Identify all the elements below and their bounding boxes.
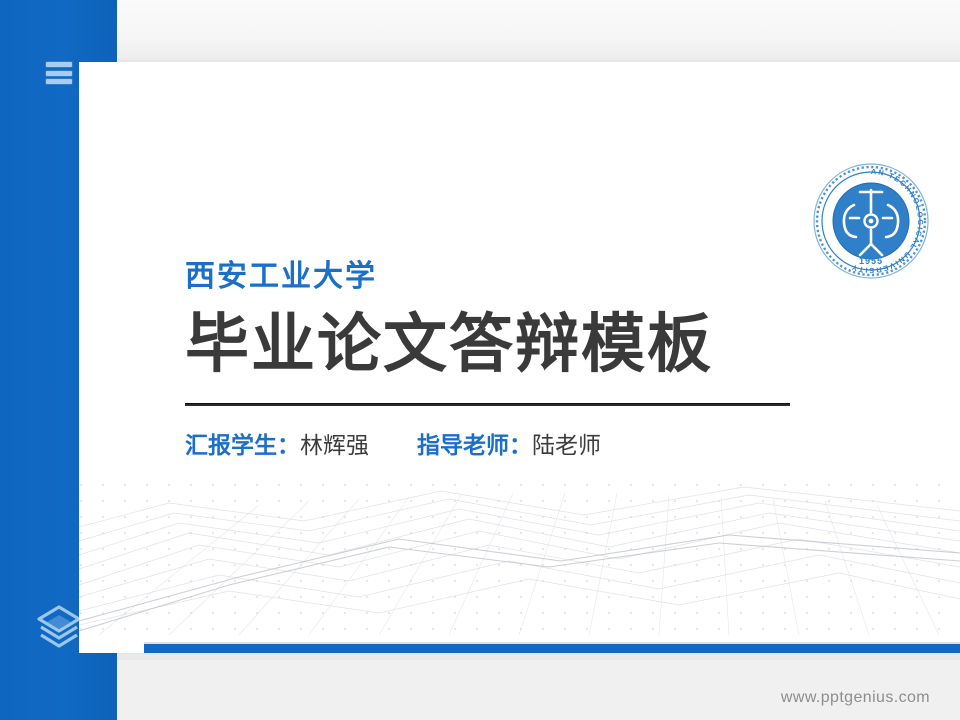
student-name: 林辉强 [300, 432, 369, 458]
student-info: 汇报学生：林辉强 [185, 432, 369, 460]
student-separator: ： [277, 432, 300, 458]
title-block: 西安工业大学 毕业论文答辩模板 汇报学生：林辉强 指导老师：陆老师 [185, 260, 825, 459]
watermark-url: www.pptgenius.com [781, 689, 930, 707]
advisor-name: 陆老师 [532, 432, 601, 458]
page-title: 毕业论文答辩模板 [185, 309, 825, 381]
advisor-separator: ： [509, 432, 532, 458]
slide-bottom-accent-bar [144, 644, 960, 653]
advisor-label: 指导老师 [417, 432, 509, 458]
people-row: 汇报学生：林辉强 指导老师：陆老师 [185, 432, 825, 460]
university-seal-logo: XI'AN TECHNOLOGICAL UNIVERSITY [810, 160, 932, 282]
layers-stack-icon[interactable] [34, 603, 84, 654]
svg-text:1955: 1955 [859, 256, 883, 266]
student-label: 汇报学生 [185, 432, 277, 458]
slide-viewer: XI'AN TECHNOLOGICAL UNIVERSITY [0, 0, 960, 720]
hamburger-menu-icon[interactable] [46, 62, 72, 84]
wireframe-mesh-decoration [79, 435, 960, 635]
title-divider [185, 403, 790, 406]
university-name: 西安工业大学 [185, 260, 825, 293]
advisor-info: 指导老师：陆老师 [417, 432, 601, 460]
presentation-slide: XI'AN TECHNOLOGICAL UNIVERSITY [79, 62, 960, 653]
wallpaper-top-band [0, 0, 960, 62]
